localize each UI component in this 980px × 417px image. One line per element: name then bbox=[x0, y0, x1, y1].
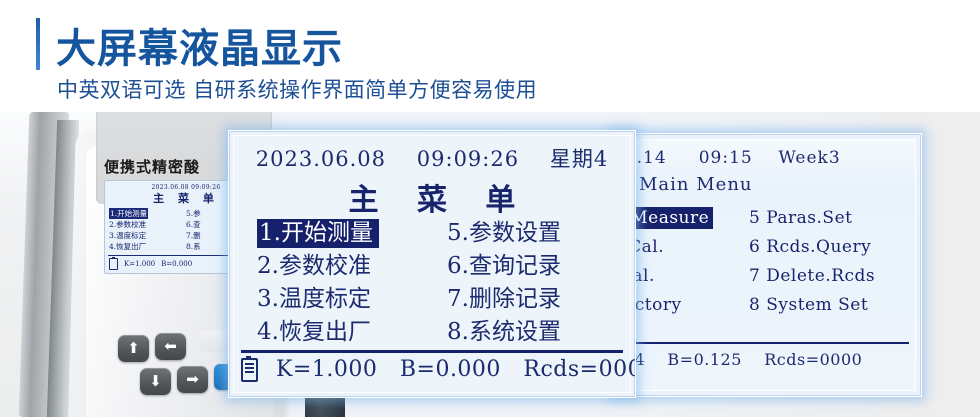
lcd-callout-english: 05.14 09:15 Week3 Main Menu t Measure 5 … bbox=[612, 133, 922, 397]
page-subtitle: 中英双语可选 自研系统操作界面简单方便容易使用 bbox=[57, 74, 537, 104]
lcd-cn-weekday: 星期4 bbox=[550, 147, 608, 171]
lcd-en-title: Main Menu bbox=[639, 174, 753, 195]
battery-icon bbox=[109, 258, 118, 270]
lcd-cn-status-bar: K=1.000 B=0.000 Rcds=0000 bbox=[229, 357, 635, 382]
battery-icon bbox=[241, 358, 258, 382]
lcd-cn-menu-item-start-measure[interactable]: 1.开始测量 bbox=[257, 217, 447, 250]
lcd-cn-status-rcds: Rcds=0000 bbox=[523, 357, 636, 382]
lcd-cn-menu-row: 3.温度标定 7.删除记录 bbox=[257, 283, 617, 316]
mini-lcd-status-k: K=1.000 bbox=[124, 260, 155, 268]
lcd-cn-status-b: B=0.000 bbox=[400, 357, 501, 382]
lcd-en-menu-item-system-set[interactable]: 8 System Set bbox=[749, 291, 919, 320]
lcd-en-weekday: Week3 bbox=[778, 148, 840, 168]
lcd-cn-menu-item-delete-rcds[interactable]: 7.删除记录 bbox=[447, 283, 617, 316]
page-header: 大屏幕液晶显示 中英双语可选 自研系统操作界面简单方便容易使用 bbox=[0, 0, 980, 112]
lcd-en-menu-row: s.Cal. 6 Rcds.Query bbox=[613, 233, 921, 262]
lcd-en-menu-row: Factory 8 System Set bbox=[613, 291, 921, 320]
lcd-cn-menu: 1.开始测量 5.参数设置 2.参数校准 6.查询记录 3.温度标定 7.删除记… bbox=[257, 217, 617, 349]
mini-lcd-item: 4.恢复出厂 bbox=[109, 241, 186, 252]
lcd-en-menu: t Measure 5 Paras.Set s.Cal. 6 Rcds.Quer… bbox=[613, 204, 921, 320]
lcd-en-menu-row: t Measure 5 Paras.Set bbox=[613, 204, 921, 233]
keypad-left-button[interactable]: ⬅ bbox=[155, 333, 186, 360]
mini-lcd-item: 3.温度标定 bbox=[109, 230, 186, 241]
lcd-cn-menu-item-paras-cal[interactable]: 2.参数校准 bbox=[257, 250, 447, 283]
lcd-en-status-bar: 024 B=0.125 Rcds=0000 bbox=[613, 350, 921, 369]
lcd-en-status-b: B=0.125 bbox=[667, 350, 741, 369]
arrow-up-icon: ⬆ bbox=[127, 341, 140, 356]
lcd-cn-menu-row: 2.参数校准 6.查询记录 bbox=[257, 250, 617, 283]
arrow-left-icon: ⬅ bbox=[164, 339, 177, 354]
keypad-down-button[interactable]: ⬇ bbox=[140, 368, 171, 395]
lcd-en-time: 09:15 bbox=[699, 148, 753, 168]
lcd-cn-menu-item-paras-set[interactable]: 5.参数设置 bbox=[447, 217, 617, 250]
header-accent-bar bbox=[36, 18, 40, 70]
lcd-cn-menu-item-restore-factory[interactable]: 4.恢复出厂 bbox=[257, 316, 447, 349]
lcd-en-menu-row: .Cal. 7 Delete.Rcds bbox=[613, 262, 921, 291]
page-title: 大屏幕液晶显示 bbox=[56, 16, 343, 74]
mini-lcd-status-b: B=0.000 bbox=[161, 260, 192, 268]
keypad-right-button[interactable]: ➡ bbox=[177, 366, 208, 393]
lcd-cn-menu-row: 4.恢复出厂 8.系统设置 bbox=[257, 316, 617, 349]
lcd-en-status-rcds: Rcds=0000 bbox=[764, 350, 862, 369]
lcd-cn-time: 09:09:26 bbox=[417, 147, 519, 171]
lcd-en-header: 05.14 09:15 Week3 bbox=[613, 148, 921, 168]
mini-lcd-item: 2.参数校准 bbox=[109, 219, 186, 230]
lcd-en-menu-item-paras-set[interactable]: 5 Paras.Set bbox=[749, 204, 919, 233]
lcd-cn-menu-row: 1.开始测量 5.参数设置 bbox=[257, 217, 617, 250]
mini-lcd-left-column: 1.开始测量 2.参数校准 3.温度标定 4.恢复出厂 bbox=[109, 208, 186, 252]
lcd-cn-menu-item-rcds-query[interactable]: 6.查询记录 bbox=[447, 250, 617, 283]
keypad-up-button[interactable]: ⬆ bbox=[118, 335, 149, 362]
lcd-en-menu-item-rcds-query[interactable]: 6 Rcds.Query bbox=[749, 233, 919, 262]
lcd-cn-status-k: K=1.000 bbox=[276, 357, 377, 382]
lcd-cn-divider bbox=[241, 350, 623, 353]
arrow-right-icon: ➡ bbox=[186, 372, 199, 387]
lcd-en-divider bbox=[625, 342, 909, 344]
mini-lcd-selected-item: 1.开始测量 bbox=[109, 208, 148, 219]
lcd-callout-chinese: 2023.06.08 09:09:26 星期4 主 菜 单 1.开始测量 5.参… bbox=[228, 130, 636, 398]
lcd-en-menu-item-delete-rcds[interactable]: 7 Delete.Rcds bbox=[749, 262, 919, 291]
lcd-cn-date: 2023.06.08 bbox=[256, 147, 386, 171]
lcd-cn-header: 2023.06.08 09:09:26 星期4 bbox=[229, 143, 635, 173]
mini-lcd-item: 1.开始测量 bbox=[109, 208, 186, 219]
arrow-down-icon: ⬇ bbox=[149, 374, 162, 389]
lcd-cn-title: 主 菜 单 bbox=[229, 175, 635, 219]
lcd-cn-menu-item-system-set[interactable]: 8.系统设置 bbox=[447, 316, 617, 349]
lcd-cn-menu-item-temp-cal[interactable]: 3.温度标定 bbox=[257, 283, 447, 316]
lcd-cn-selected-label: 1.开始测量 bbox=[257, 219, 379, 248]
